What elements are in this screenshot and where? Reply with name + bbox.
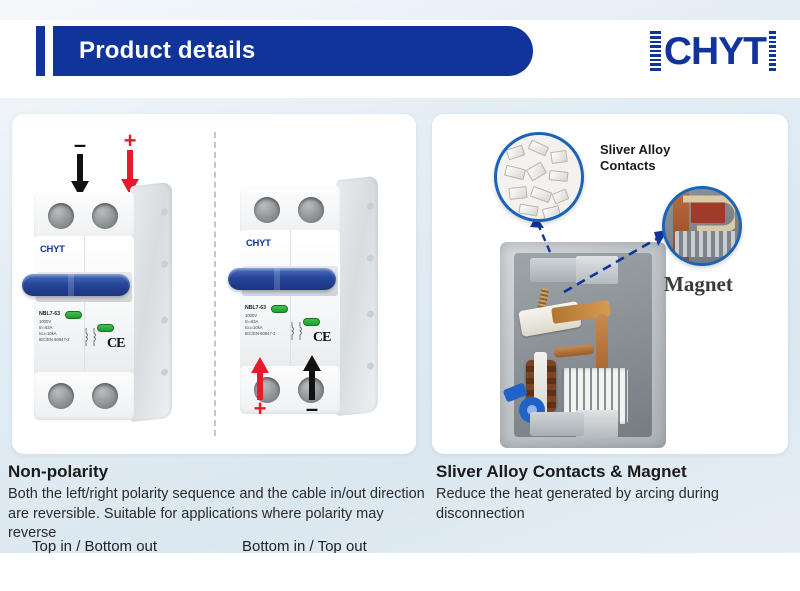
feature-body: Reduce the heat generated by arcing duri… — [436, 485, 786, 524]
breaker-brand-label: CHYT — [40, 244, 65, 255]
bottom-white-band — [0, 553, 800, 591]
callout-label-contacts: Sliver Alloy Contacts — [600, 142, 670, 174]
feature-block-sliver-alloy: Sliver Alloy Contacts & Magnet Reduce th… — [436, 462, 786, 524]
arrow-up-icon — [250, 356, 270, 400]
breaker-bottom-terminals — [34, 372, 134, 420]
callout-label-magnet: Magnet — [664, 272, 733, 298]
feature-title: Sliver Alloy Contacts & Magnet — [436, 462, 786, 482]
callout-magnet — [662, 186, 742, 266]
breaker-model: NBL7-63 — [245, 306, 337, 311]
breaker-side-body — [336, 176, 378, 416]
left-image-card: – + CHYT — [12, 114, 416, 454]
breaker-toggle-lever[interactable] — [228, 268, 336, 290]
breaker-front-face: CHYT NBL7-63 1000V In=63A Icu=10kA IEC/E… — [34, 236, 134, 378]
terminal-hole-icon — [92, 203, 118, 229]
logo-right-bars-icon — [769, 31, 776, 70]
ce-mark-icon: CE — [313, 330, 330, 346]
breaker-front-face: CHYT NBL7-63 1000V In=63A Icu=10kA IEC/E… — [240, 230, 340, 372]
leader-line-magnet — [560, 226, 672, 296]
indicator-green-icon — [271, 305, 288, 313]
feature-block-non-polarity: Non-polarity Both the left/right polarit… — [8, 462, 426, 544]
polarity-sign-negative: – — [74, 136, 86, 154]
card-divider — [214, 132, 216, 436]
ce-mark-icon: CE — [107, 336, 124, 352]
brand-logo: CHYT — [650, 28, 776, 74]
header-accent-bar — [36, 26, 45, 76]
page-title: Product details — [53, 37, 255, 65]
terminal-hole-icon — [298, 197, 324, 223]
breaker-spec-label: NBL7-63 1000V In=63A Icu=10kA IEC/EN 609… — [39, 312, 131, 366]
terminal-hole-icon — [48, 203, 74, 229]
arrow-down-icon — [70, 154, 90, 198]
callout-label-contacts-line2: Contacts — [600, 158, 670, 174]
arrow-group-top-negative: – — [70, 136, 90, 198]
slide-background: Product details CHYT – + — [0, 0, 800, 591]
arrow-group-bottom-negative: – — [302, 354, 322, 418]
right-image-card: Sliver Alloy Contacts Magnet — [432, 114, 788, 454]
logo-left-bars-icon — [650, 31, 661, 70]
feature-body: Both the left/right polarity sequence an… — [8, 485, 426, 544]
terminal-hole-icon — [48, 383, 74, 409]
polarity-sign-negative: – — [306, 400, 318, 418]
breaker-spec-label: NBL7-63 1000V In=63A Icu=10kA IEC/EN 609… — [245, 306, 337, 360]
breaker-top-in: CHYT NBL7-63 1000V In=63A Icu=10kA IEC/E… — [34, 192, 156, 420]
breaker-brand-label: CHYT — [246, 238, 271, 249]
page-header: Product details CHYT — [0, 20, 800, 98]
breaker-top-terminals — [34, 192, 134, 240]
polarity-sign-positive: + — [254, 400, 267, 418]
callout-label-contacts-line1: Sliver Alloy — [600, 142, 670, 158]
arrow-up-icon — [302, 354, 322, 400]
arrow-group-bottom-positive: + — [250, 356, 270, 418]
bottom-screw-terminal — [530, 412, 584, 436]
callout-sliver-alloy-contacts — [494, 132, 584, 222]
indicator-green-icon — [65, 311, 82, 319]
feature-title: Non-polarity — [8, 462, 426, 482]
breaker-top-terminals — [240, 186, 340, 234]
breaker-toggle-lever[interactable] — [22, 274, 130, 296]
breaker-model: NBL7-63 — [39, 312, 131, 317]
circuit-diagram-icon — [289, 320, 307, 342]
polarity-sign-positive: + — [124, 132, 137, 150]
breaker-side-body — [130, 182, 172, 422]
page-title-pill: Product details — [53, 26, 533, 76]
logo-wordmark: CHYT — [664, 32, 766, 71]
circuit-diagram-icon — [83, 326, 101, 348]
terminal-hole-icon — [92, 383, 118, 409]
terminal-hole-icon — [254, 197, 280, 223]
